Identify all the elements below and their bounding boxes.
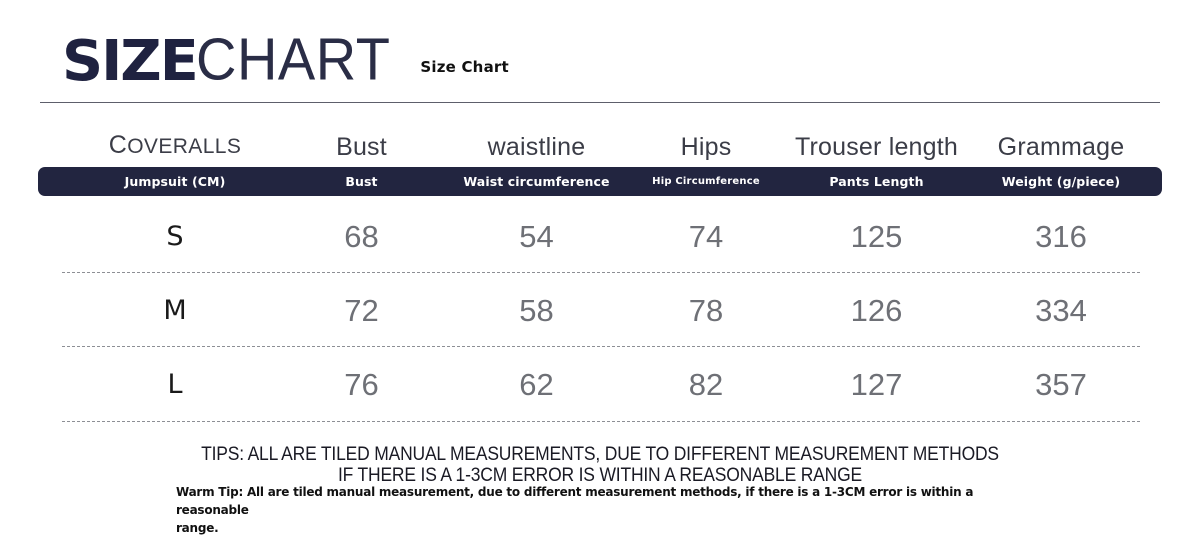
table-row: S 68 54 74 125 316: [0, 200, 1200, 274]
cell-hips: 78: [620, 274, 792, 348]
tips-line-1: TIPS: ALL ARE TILED MANUAL MEASUREMENTS,…: [48, 444, 1152, 465]
cell-weight: 316: [961, 200, 1161, 274]
cell-size: S: [80, 200, 270, 274]
cell-pants-length: 125: [792, 200, 961, 274]
row-divider: [62, 421, 1140, 422]
header-dark-waist-circumference: Waist circumference: [453, 167, 620, 196]
cell-pants-length: 127: [792, 348, 961, 422]
size-chart-page: SIZE CHART Size Chart COVERALLS Bust wai…: [0, 0, 1200, 550]
logo-chart-word: CHART: [196, 30, 390, 89]
header-divider: [40, 102, 1160, 103]
header-dark-bust: Bust: [270, 167, 453, 196]
header-light-waistline: waistline: [453, 132, 620, 162]
title-block: SIZE CHART Size Chart: [62, 33, 509, 90]
header-light-trouser-length: Trouser length: [792, 132, 961, 162]
header-light-grammage: Grammage: [961, 132, 1161, 162]
warm-tip-line-2: range.: [176, 519, 1002, 537]
cell-size: L: [80, 348, 270, 422]
logo-size-word: SIZE: [62, 34, 197, 90]
header-dark-jumpsuit: Jumpsuit (CM): [80, 167, 270, 196]
cell-bust: 76: [270, 348, 453, 422]
header-dark-pants-length: Pants Length: [792, 167, 961, 196]
cell-hips: 82: [620, 348, 792, 422]
page-subtitle: Size Chart: [420, 58, 508, 76]
cell-waist: 54: [453, 200, 620, 274]
row-divider: [62, 272, 1140, 273]
table-header-dark: Jumpsuit (CM) Bust Waist circumference H…: [0, 167, 1200, 196]
header-dark-weight: Weight (g/piece): [961, 167, 1161, 196]
cell-hips: 74: [620, 200, 792, 274]
tips-note: TIPS: ALL ARE TILED MANUAL MEASUREMENTS,…: [0, 444, 1200, 486]
cell-bust: 68: [270, 200, 453, 274]
warm-tip-note: Warm Tip: All are tiled manual measureme…: [176, 483, 1036, 537]
header-dark-hip-circumference: Hip Circumference: [620, 167, 792, 196]
cell-pants-length: 126: [792, 274, 961, 348]
warm-tip-line-1: Warm Tip: All are tiled manual measureme…: [176, 483, 1002, 519]
table-header-light: COVERALLS Bust waistline Hips Trouser le…: [0, 130, 1200, 162]
header-light-hips: Hips: [620, 132, 792, 162]
header-light-bust: Bust: [270, 132, 453, 162]
cell-weight: 357: [961, 348, 1161, 422]
header-light-coveralls: COVERALLS: [80, 130, 270, 162]
table-row: L 76 62 82 127 357: [0, 348, 1200, 422]
cell-waist: 62: [453, 348, 620, 422]
cell-waist: 58: [453, 274, 620, 348]
row-divider: [62, 346, 1140, 347]
table-row: M 72 58 78 126 334: [0, 274, 1200, 348]
cell-weight: 334: [961, 274, 1161, 348]
cell-size: M: [80, 274, 270, 348]
cell-bust: 72: [270, 274, 453, 348]
